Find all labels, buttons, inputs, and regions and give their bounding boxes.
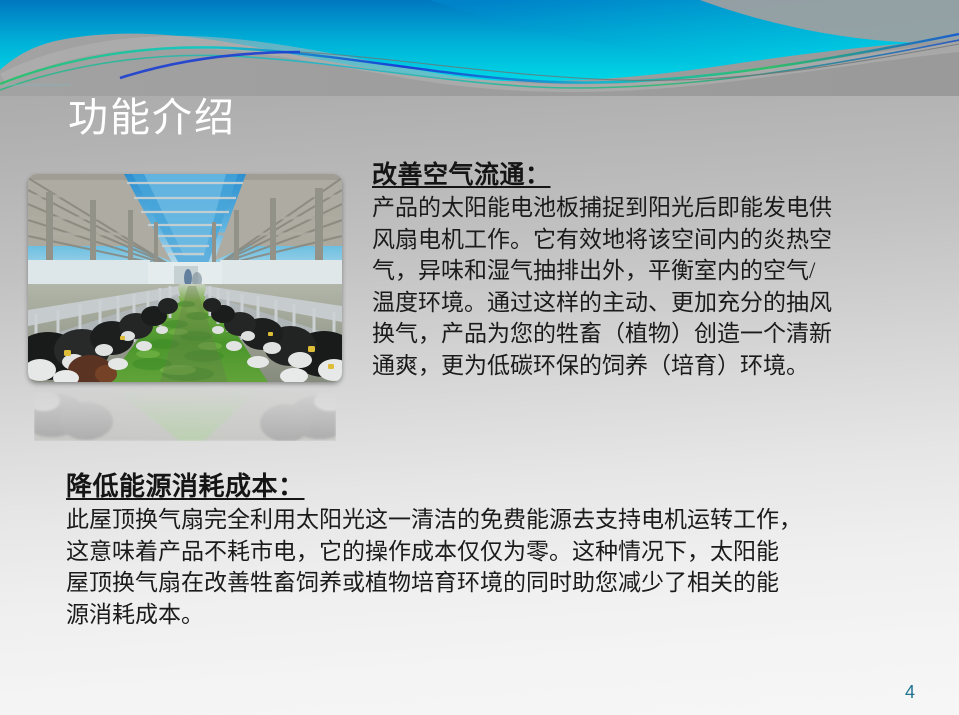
body-line: 风扇电机工作。它有效地将该空间内的炎热空 (372, 224, 934, 256)
energy-cost-heading: 降低能源消耗成本： (66, 470, 938, 504)
page-title: 功能介绍 (68, 94, 236, 142)
air-circulation-section: 改善空气流通： 产品的太阳能电池板捕捉到阳光后即能发电供 风扇电机工作。它有效地… (372, 160, 934, 381)
body-line: 温度环境。通过这样的主动、更加充分的抽风 (372, 287, 934, 319)
body-line: 屋顶换气扇在改善牲畜饲养或植物培育环境的同时助您减少了相关的能 (66, 567, 938, 599)
body-line: 换气，产品为您的牲畜（植物）创造一个清新 (372, 318, 934, 350)
photo-reflection (34, 383, 336, 441)
air-circulation-heading: 改善空气流通： (372, 160, 934, 192)
slide-canvas: 功能介绍 (0, 0, 959, 715)
body-line: 通爽，更为低碳环保的饲养（培育）环境。 (372, 350, 934, 382)
body-line: 这意味着产品不耗市电，它的操作成本仅仅为零。这种情况下，太阳能 (66, 536, 938, 568)
page-number: 4 (898, 681, 922, 703)
body-line: 气，异味和湿气抽排出外，平衡室内的空气/ (372, 255, 934, 287)
air-circulation-body: 产品的太阳能电池板捕捉到阳光后即能发电供 风扇电机工作。它有效地将该空间内的炎热… (372, 192, 934, 381)
energy-cost-body: 此屋顶换气扇完全利用太阳光这一清洁的免费能源去支持电机运转工作， 这意味着产品不… (66, 504, 938, 630)
dairy-barn-photo (28, 174, 342, 382)
energy-cost-section: 降低能源消耗成本： 此屋顶换气扇完全利用太阳光这一清洁的免费能源去支持电机运转工… (66, 470, 938, 630)
body-line: 产品的太阳能电池板捕捉到阳光后即能发电供 (372, 192, 934, 224)
dairy-barn-photo-container (28, 174, 342, 382)
decorative-wave-banner (0, 0, 959, 96)
body-line: 源消耗成本。 (66, 599, 938, 631)
body-line: 此屋顶换气扇完全利用太阳光这一清洁的免费能源去支持电机运转工作， (66, 504, 938, 536)
